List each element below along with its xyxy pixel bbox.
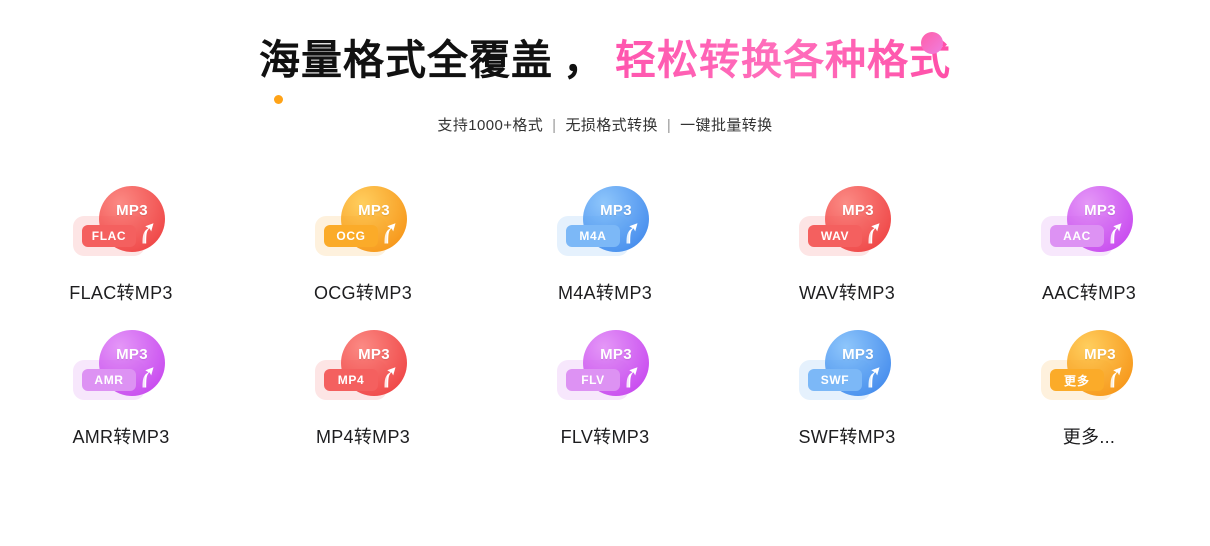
- source-format-box: M4A: [557, 216, 629, 256]
- format-icon-flv: MP3FLV: [557, 328, 653, 408]
- format-icon-ocg: MP3OCG: [315, 184, 411, 264]
- format-icon-更多: MP3更多: [1041, 328, 1137, 408]
- format-card-m4a[interactable]: MP3M4AM4A转MP3: [484, 176, 726, 305]
- format-icon-flac: MP3FLAC: [73, 184, 169, 264]
- source-format-box: AAC: [1041, 216, 1113, 256]
- format-card-amr[interactable]: MP3AMRAMR转MP3: [0, 320, 242, 449]
- page-title: 海量格式全覆盖，轻松转换各种格式: [259, 38, 951, 84]
- format-card-label: FLV转MP3: [561, 423, 650, 449]
- page-title-comma: ，: [553, 37, 615, 83]
- source-format-label: AAC: [1050, 225, 1104, 247]
- source-format-box: MP4: [315, 360, 387, 400]
- source-format-label: OCG: [324, 225, 378, 247]
- format-card-更多[interactable]: MP3更多更多...: [968, 320, 1210, 449]
- decorative-pink-dot: [921, 32, 943, 54]
- format-card-mp4[interactable]: MP3MP4MP4转MP3: [242, 320, 484, 449]
- source-format-label: M4A: [566, 225, 620, 247]
- decorative-orange-dot: [274, 95, 283, 104]
- subtitle-item-batch: 一键批量转换: [680, 117, 772, 134]
- format-card-aac[interactable]: MP3AACAAC转MP3: [968, 176, 1210, 305]
- hero-subtitle: 支持1000+格式|无损格式转换|一键批量转换: [0, 114, 1210, 135]
- subtitle-separator-1: |: [543, 117, 565, 134]
- subtitle-item-formats: 支持1000+格式: [437, 117, 543, 134]
- page-title-dark-part: 海量格式全覆盖: [259, 37, 553, 83]
- format-card-label: FLAC转MP3: [69, 279, 172, 305]
- source-format-box: WAV: [799, 216, 871, 256]
- format-card-ocg[interactable]: MP3OCGOCG转MP3: [242, 176, 484, 305]
- format-card-wav[interactable]: MP3WAVWAV转MP3: [726, 176, 968, 305]
- format-icon-mp4: MP3MP4: [315, 328, 411, 408]
- source-format-label: WAV: [808, 225, 862, 247]
- source-format-label: SWF: [808, 369, 862, 391]
- format-card-label: WAV转MP3: [799, 279, 895, 305]
- format-card-label: AAC转MP3: [1042, 279, 1136, 305]
- format-card-label: 更多...: [1063, 423, 1116, 449]
- format-card-label: SWF转MP3: [798, 423, 895, 449]
- source-format-box: SWF: [799, 360, 871, 400]
- source-format-box: FLAC: [73, 216, 145, 256]
- source-format-label: 更多: [1050, 369, 1104, 391]
- page-title-pink-part: 轻松转换各种格式: [615, 37, 951, 83]
- format-conversion-grid: MP3FLACFLAC转MP3MP3OCGOCG转MP3MP3M4AM4A转MP…: [0, 176, 1210, 449]
- format-card-label: M4A转MP3: [558, 279, 652, 305]
- subtitle-item-lossless: 无损格式转换: [565, 117, 657, 134]
- source-format-box: FLV: [557, 360, 629, 400]
- source-format-label: AMR: [82, 369, 136, 391]
- format-card-label: AMR转MP3: [72, 423, 169, 449]
- format-icon-m4a: MP3M4A: [557, 184, 653, 264]
- source-format-box: 更多: [1041, 360, 1113, 400]
- hero-section: 海量格式全覆盖，轻松转换各种格式 支持1000+格式|无损格式转换|一键批量转换: [0, 0, 1210, 135]
- format-icon-swf: MP3SWF: [799, 328, 895, 408]
- format-card-label: MP4转MP3: [316, 423, 410, 449]
- format-card-swf[interactable]: MP3SWFSWF转MP3: [726, 320, 968, 449]
- format-card-label: OCG转MP3: [314, 279, 412, 305]
- source-format-box: AMR: [73, 360, 145, 400]
- format-card-flac[interactable]: MP3FLACFLAC转MP3: [0, 176, 242, 305]
- format-card-flv[interactable]: MP3FLVFLV转MP3: [484, 320, 726, 449]
- source-format-box: OCG: [315, 216, 387, 256]
- source-format-label: FLAC: [82, 225, 136, 247]
- format-icon-wav: MP3WAV: [799, 184, 895, 264]
- subtitle-separator-2: |: [658, 117, 680, 134]
- format-icon-amr: MP3AMR: [73, 328, 169, 408]
- format-icon-aac: MP3AAC: [1041, 184, 1137, 264]
- source-format-label: FLV: [566, 369, 620, 391]
- source-format-label: MP4: [324, 369, 378, 391]
